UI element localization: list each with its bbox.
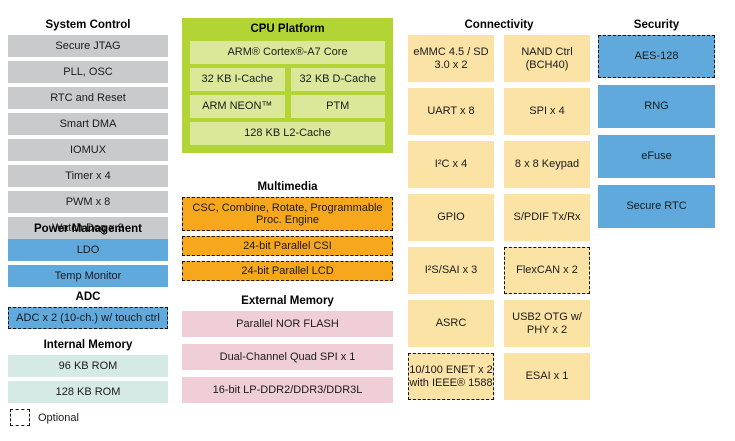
section-title-connectivity: Connectivity	[408, 18, 590, 35]
section-cpu-platform: CPU Platform ARM® Cortex®-A7 Core 32 KB …	[182, 18, 393, 153]
cpu-platform-container: CPU Platform ARM® Cortex®-A7 Core 32 KB …	[182, 18, 393, 153]
section-internal-memory: Internal Memory 96 KB ROM 128 KB ROM	[8, 338, 168, 407]
block-usb2-otg: USB2 OTG w/ PHY x 2	[504, 300, 590, 347]
cpu-cache-row: 32 KB I-Cache 32 KB D-Cache	[190, 68, 385, 95]
section-title-adc: ADC	[8, 290, 168, 307]
block-timer: Timer x 4	[8, 165, 168, 187]
block-i2s-sai: I²S/SAI x 3	[408, 247, 494, 294]
section-title-security: Security	[598, 18, 715, 35]
section-title-internal-memory: Internal Memory	[8, 338, 168, 355]
legend-label: Optional	[38, 412, 79, 424]
block-uart: UART x 8	[408, 88, 494, 135]
block-dual-channel-quad-spi: Dual-Channel Quad SPI x 1	[182, 344, 393, 370]
block-spdif: S/PDIF Tx/Rx	[504, 194, 590, 241]
block-rtc-and-reset: RTC and Reset	[8, 87, 168, 109]
block-adc-touch-ctrl: ADC x 2 (10-ch.) w/ touch ctrl	[8, 307, 168, 329]
block-i-cache: 32 KB I-Cache	[190, 68, 285, 91]
block-temp-monitor: Temp Monitor	[8, 265, 168, 287]
block-iomux: IOMUX	[8, 139, 168, 161]
legend-optional: Optional	[10, 409, 79, 426]
block-pwm: PWM x 8	[8, 191, 168, 213]
block-emmc-sd: eMMC 4.5 / SD 3.0 x 2	[408, 35, 494, 82]
section-power-management: Power Management LDO Temp Monitor	[8, 222, 168, 291]
block-128kb-rom: 128 KB ROM	[8, 381, 168, 403]
section-external-memory: External Memory Parallel NOR FLASH Dual-…	[182, 294, 393, 410]
block-rng: RNG	[598, 85, 715, 128]
block-96kb-rom: 96 KB ROM	[8, 355, 168, 377]
block-parallel-csi: 24-bit Parallel CSI	[182, 236, 393, 256]
block-nand-ctrl: NAND Ctrl (BCH40)	[504, 35, 590, 82]
block-secure-rtc: Secure RTC	[598, 185, 715, 228]
block-aes-128: AES-128	[598, 35, 715, 78]
block-i2c: I²C x 4	[408, 141, 494, 188]
section-security: Security AES-128 RNG eFuse Secure RTC	[598, 18, 715, 235]
block-l2-cache: 128 KB L2-Cache	[190, 122, 385, 145]
block-csc-combine-rotate-ppe: CSC, Combine, Rotate, Programmable Proc.…	[182, 197, 393, 231]
block-flexcan: FlexCAN x 2	[504, 247, 590, 294]
block-arm-neon: ARM NEON™	[190, 95, 285, 118]
soc-block-diagram: System Control Secure JTAG PLL, OSC RTC …	[0, 0, 735, 441]
block-d-cache: 32 KB D-Cache	[291, 68, 386, 91]
section-title-multimedia: Multimedia	[182, 180, 393, 197]
cpu-neon-row: ARM NEON™ PTM	[190, 95, 385, 122]
block-spi: SPI x 4	[504, 88, 590, 135]
block-smart-dma: Smart DMA	[8, 113, 168, 135]
block-arm-cortex-a7-core: ARM® Cortex®-A7 Core	[190, 41, 385, 64]
block-secure-jtag: Secure JTAG	[8, 35, 168, 57]
block-parallel-nor-flash: Parallel NOR FLASH	[182, 311, 393, 337]
block-parallel-lcd: 24-bit Parallel LCD	[182, 261, 393, 281]
dashed-box-icon	[10, 409, 30, 426]
block-efuse: eFuse	[598, 135, 715, 178]
block-ptm: PTM	[291, 95, 386, 118]
section-title-system-control: System Control	[8, 18, 168, 35]
section-title-external-memory: External Memory	[182, 294, 393, 311]
block-lp-ddr2-ddr3: 16-bit LP-DDR2/DDR3/DDR3L	[182, 377, 393, 403]
block-asrc: ASRC	[408, 300, 494, 347]
section-system-control: System Control Secure JTAG PLL, OSC RTC …	[8, 18, 168, 243]
block-keypad: 8 x 8 Keypad	[504, 141, 590, 188]
block-ldo: LDO	[8, 239, 168, 261]
section-adc: ADC ADC x 2 (10-ch.) w/ touch ctrl	[8, 290, 168, 333]
block-gpio: GPIO	[408, 194, 494, 241]
block-enet-ieee1588: 10/100 ENET x 2 with IEEE® 1588	[408, 353, 494, 400]
section-connectivity: Connectivity eMMC 4.5 / SD 3.0 x 2 NAND …	[408, 18, 590, 400]
section-title-cpu-platform: CPU Platform	[190, 22, 385, 41]
connectivity-grid: eMMC 4.5 / SD 3.0 x 2 NAND Ctrl (BCH40) …	[408, 35, 590, 400]
block-pll-osc: PLL, OSC	[8, 61, 168, 83]
section-title-power-management: Power Management	[8, 222, 168, 239]
block-esai: ESAI x 1	[504, 353, 590, 400]
section-multimedia: Multimedia CSC, Combine, Rotate, Program…	[182, 180, 393, 286]
